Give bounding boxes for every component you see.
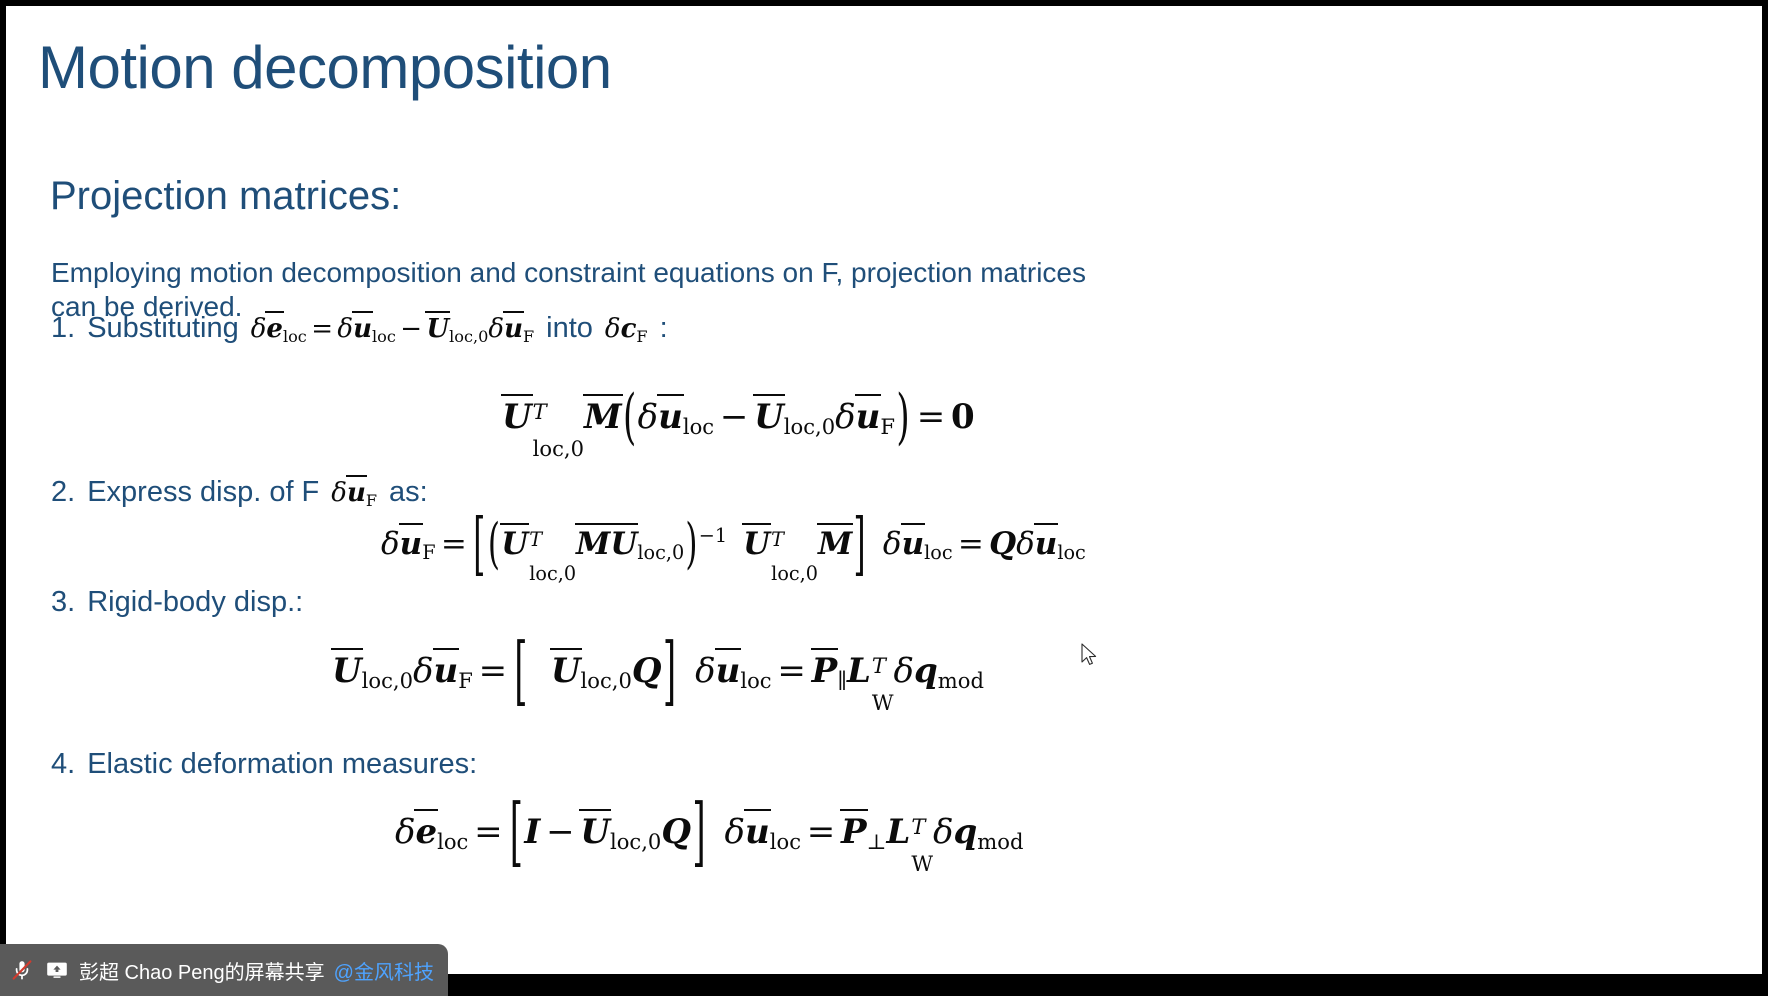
step-3-line: 3. Rigid-body disp.: <box>51 586 303 619</box>
step-1-line: 1. Substituting δeloc = δuloc − Uloc,0δu… <box>51 312 668 345</box>
section-title: Projection matrices: <box>50 174 401 219</box>
step-3-label: Rigid-body disp.: <box>87 586 303 619</box>
step-1-label-after: into <box>546 312 593 345</box>
slide-title: Motion decomposition <box>38 36 612 99</box>
equation-4: δeloc = [ I − Uloc,0Q ] δuloc = P⊥LTWδqm… <box>395 811 1023 867</box>
microphone-muted-icon[interactable] <box>9 957 35 983</box>
step-2-label: Express disp. of F <box>87 476 319 509</box>
slide-frame: Motion decomposition Projection matrices… <box>0 0 1768 980</box>
step-2-inline-math: δuF <box>331 477 377 508</box>
step-1-number: 1. <box>51 312 75 345</box>
step-1-inline-math: δeloc = δuloc − Uloc,0δuF <box>251 313 534 344</box>
share-organization: @金风科技 <box>334 956 434 985</box>
step-3-number: 3. <box>51 586 75 619</box>
step-4-label: Elastic deformation measures: <box>87 748 477 781</box>
step-1-inline-math-2: δcF <box>605 314 648 344</box>
step-2-line: 2. Express disp. of F δuF as: <box>51 476 428 509</box>
equation-3: Uloc,0δuF = [ Uloc,0Q ] δuloc = P∥LTWδqm… <box>332 650 984 706</box>
screen-share-window: Motion decomposition Projection matrices… <box>0 0 1768 996</box>
screen-share-indicator[interactable]: 彭超 Chao Peng的屏幕共享 @金风科技 <box>0 944 448 996</box>
step-1-label: Substituting <box>87 312 239 345</box>
screen-share-icon[interactable] <box>44 957 70 983</box>
share-title: 彭超 Chao Peng的屏幕共享 <box>79 956 325 985</box>
equation-2: δuF = [ ( UTloc,0 MUloc,0 )−1 UTloc,0 M … <box>381 525 1086 576</box>
presentation-slide: Motion decomposition Projection matrices… <box>6 6 1762 974</box>
step-4-line: 4. Elastic deformation measures: <box>51 748 477 781</box>
equation-1: UTloc,0 M ( δuloc − Uloc,0δuF ) = 0 <box>502 396 975 452</box>
step-4-number: 4. <box>51 748 75 781</box>
step-1-colon: : <box>660 312 668 345</box>
step-2-number: 2. <box>51 476 75 509</box>
step-2-label-after: as: <box>389 476 428 509</box>
